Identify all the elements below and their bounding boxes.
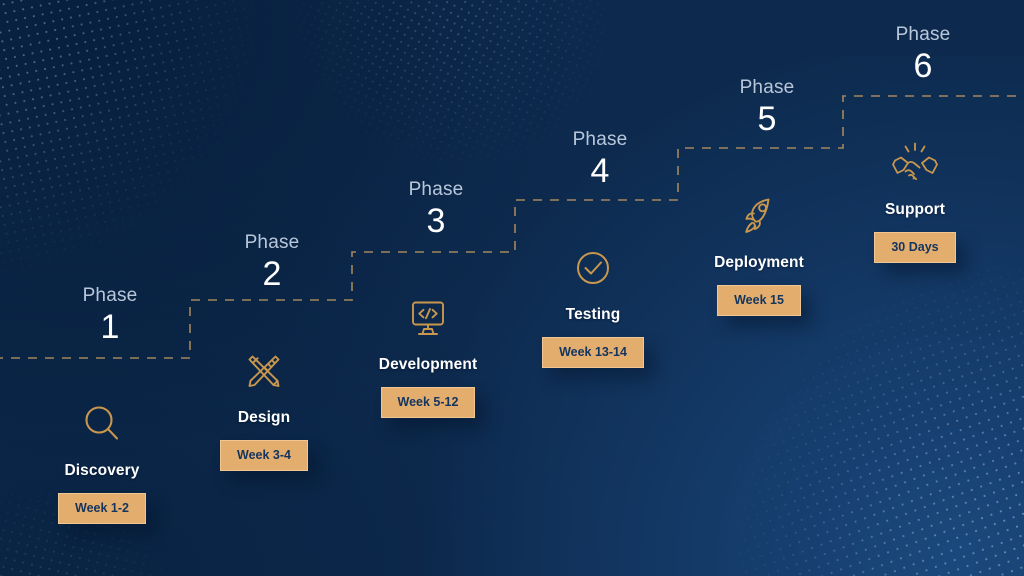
phase-heading-2: Phase 2 xyxy=(192,233,352,295)
phase-word-3: Phase xyxy=(356,180,516,200)
phase-content-4: Testing Week 13-14 xyxy=(503,242,683,368)
phase-badge-1[interactable]: Week 1-2 xyxy=(58,493,146,524)
phase-number-6: 6 xyxy=(843,45,1003,88)
phase-title-6: Support xyxy=(825,201,1005,219)
phase-heading-6: Phase 6 xyxy=(843,25,1003,87)
phase-badge-2[interactable]: Week 3-4 xyxy=(220,440,308,471)
phase-number-5: 5 xyxy=(687,98,847,141)
phase-word-6: Phase xyxy=(843,25,1003,45)
pencil-ruler-icon xyxy=(174,345,354,397)
phase-heading-3: Phase 3 xyxy=(356,180,516,242)
phase-heading-5: Phase 5 xyxy=(687,78,847,140)
phase-number-1: 1 xyxy=(30,306,190,349)
phase-title-3: Development xyxy=(338,356,518,374)
magnifier-icon xyxy=(12,398,192,450)
phase-word-1: Phase xyxy=(30,286,190,306)
phase-content-2: Design Week 3-4 xyxy=(174,345,354,471)
phase-content-1: Discovery Week 1-2 xyxy=(12,398,192,524)
code-monitor-icon xyxy=(338,292,518,344)
phase-heading-4: Phase 4 xyxy=(520,130,680,192)
phase-badge-4[interactable]: Week 13-14 xyxy=(542,337,644,368)
rocket-icon xyxy=(669,190,849,242)
phase-content-5: Deployment Week 15 xyxy=(669,190,849,316)
phase-number-4: 4 xyxy=(520,150,680,193)
phase-word-5: Phase xyxy=(687,78,847,98)
phase-number-2: 2 xyxy=(192,253,352,296)
check-circle-icon xyxy=(503,242,683,294)
phase-title-2: Design xyxy=(174,409,354,427)
phase-content-6: Support 30 Days xyxy=(825,137,1005,263)
phase-title-5: Deployment xyxy=(669,254,849,272)
phase-title-4: Testing xyxy=(503,306,683,324)
phase-number-3: 3 xyxy=(356,200,516,243)
phase-word-4: Phase xyxy=(520,130,680,150)
phase-content-3: Development Week 5-12 xyxy=(338,292,518,418)
phase-title-1: Discovery xyxy=(12,462,192,480)
phase-badge-3[interactable]: Week 5-12 xyxy=(381,387,476,418)
roadmap-infographic: Phase 1 Discovery Week 1-2 Phase 2 xyxy=(0,0,1024,576)
phase-heading-1: Phase 1 xyxy=(30,286,190,348)
phase-badge-5[interactable]: Week 15 xyxy=(717,285,801,316)
phase-badge-6[interactable]: 30 Days xyxy=(874,232,955,263)
handshake-icon xyxy=(825,137,1005,189)
phase-word-2: Phase xyxy=(192,233,352,253)
